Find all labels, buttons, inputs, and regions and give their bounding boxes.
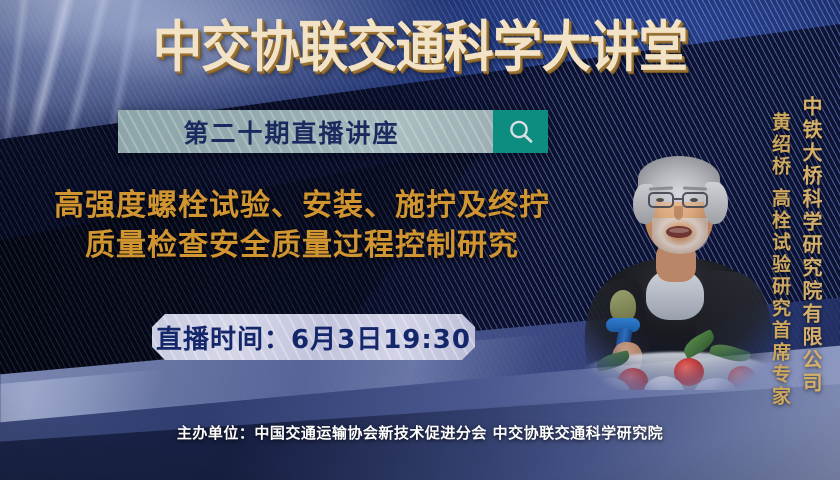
episode-field[interactable]: 第二十期直播讲座	[118, 110, 493, 153]
episode-search-bar[interactable]: 第二十期直播讲座	[118, 110, 548, 153]
search-icon	[506, 117, 536, 147]
speaker-name-and-role: 黄绍桥 高栓试验研究首席专家	[767, 112, 794, 408]
search-button[interactable]	[493, 110, 548, 153]
headline: 高强度螺栓试验、安装、施拧及终拧 质量检查安全质量过程控制研究	[8, 186, 596, 266]
webinar-poster: 中交协联交通科学大讲堂 第二十期直播讲座 高强度螺栓试验、安装、施拧及终拧 质量…	[0, 0, 840, 480]
episode-label: 第二十期直播讲座	[183, 114, 399, 150]
speaker-organization: 中铁大桥科学研究院有限公司	[797, 96, 826, 395]
headline-line-2: 质量检查安全质量过程控制研究	[8, 226, 596, 266]
broadcast-time-text: 直播时间：6月3日19:30	[156, 319, 471, 356]
main-title: 中交协联交通科学大讲堂	[42, 16, 798, 78]
organizer-footer: 主办单位：中国交通运输协会新技术促进分会 中交协联交通科学研究院	[0, 422, 840, 443]
broadcast-time-box: 直播时间：6月3日19:30	[152, 314, 475, 360]
headline-line-1: 高强度螺栓试验、安装、施拧及终拧	[54, 188, 550, 223]
